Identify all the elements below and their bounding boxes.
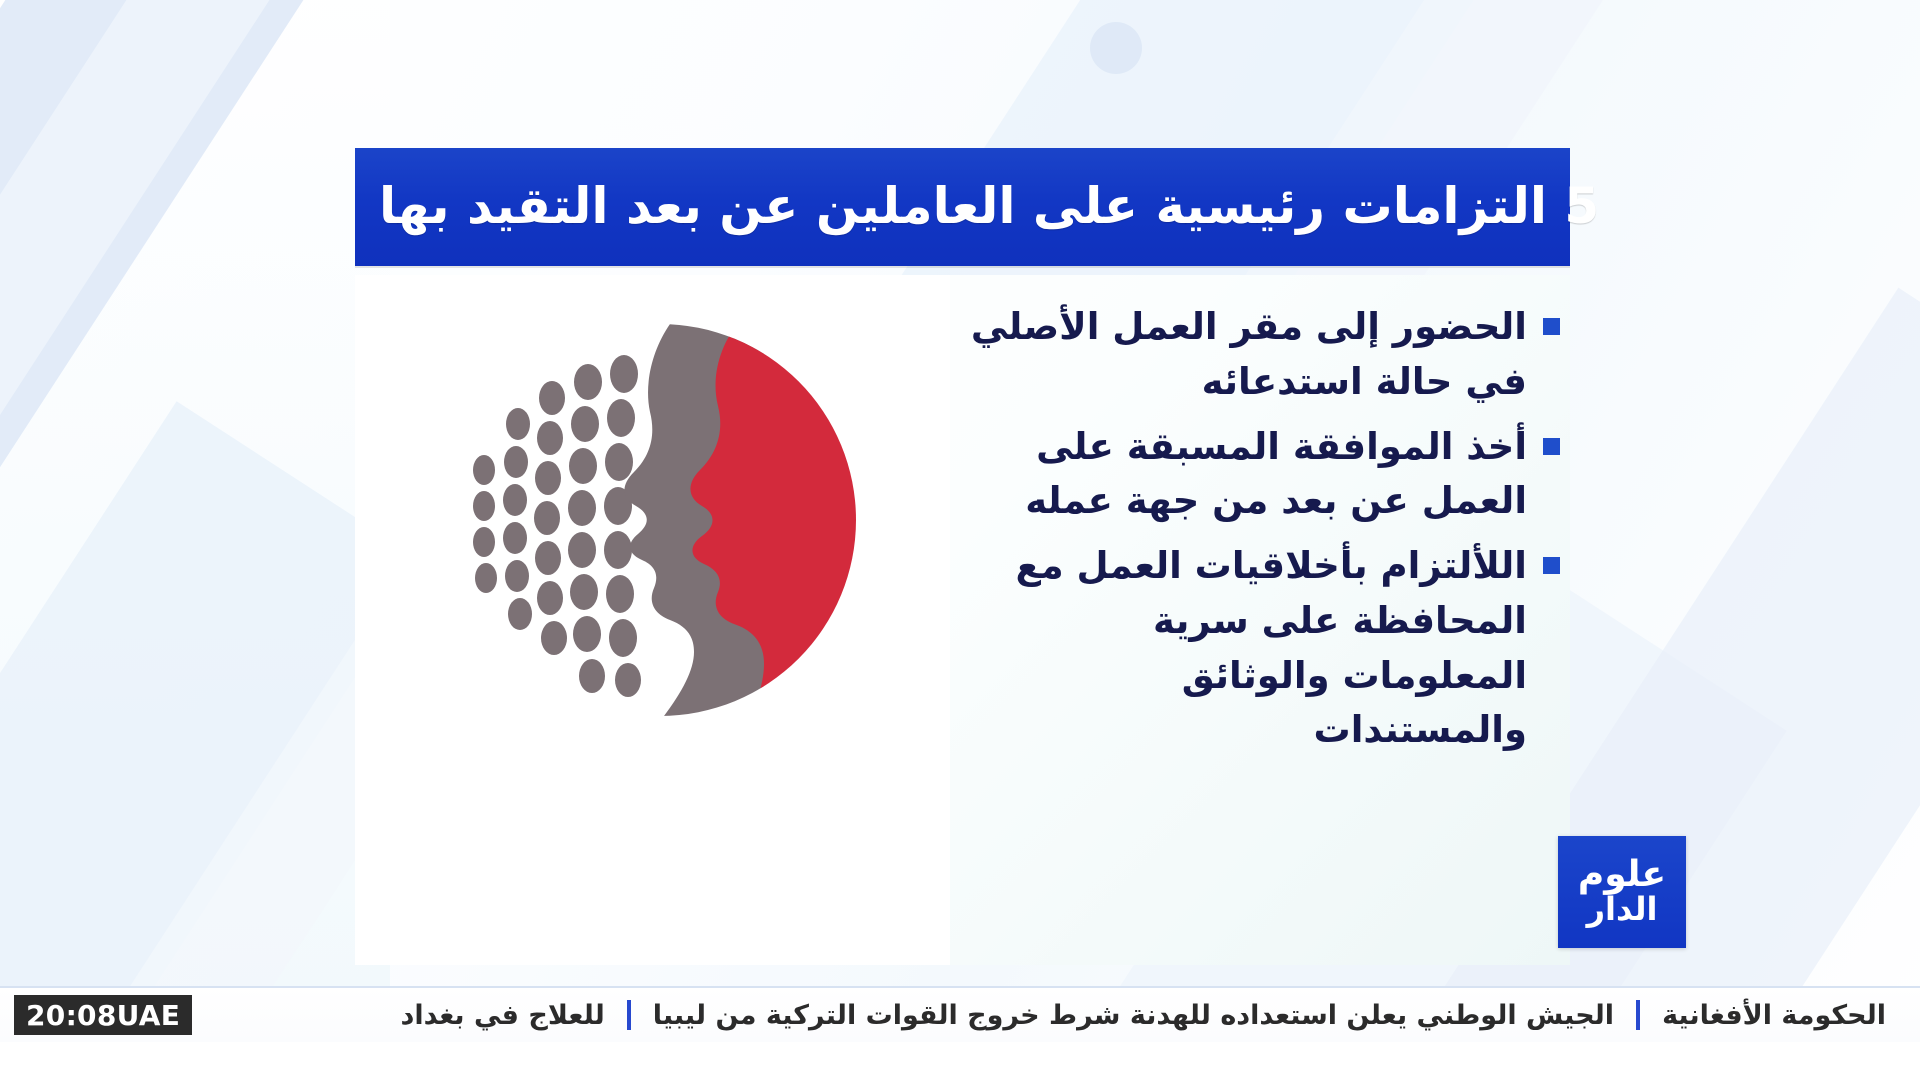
square-bullet-icon: [1543, 318, 1560, 335]
headline-band: 5 التزامات رئيسية على العاملين عن بعد ال…: [355, 148, 1570, 266]
reflection-fade: [440, 722, 880, 962]
ticker-item: للعلاج في بغداد: [378, 1002, 626, 1029]
ticker-separator: [1636, 1000, 1640, 1030]
background-dot: [1090, 22, 1142, 74]
ticker-bottom-strip: [0, 1042, 1920, 1080]
news-ticker-track: الحكومة الأفغانية الجيش الوطني يعلن استع…: [198, 988, 1920, 1042]
bullet-text: الحضور إلى مقر العمل الأصلي في حالة استد…: [960, 300, 1527, 410]
broadcast-frame: 5 التزامات رئيسية على العاملين عن بعد ال…: [0, 0, 1920, 1080]
globe-face-emblem: [440, 320, 880, 720]
channel-logo: علوم الدار: [1558, 836, 1686, 948]
square-bullet-icon: [1543, 557, 1560, 574]
ticker-clock-badge: 20:08UAE: [14, 995, 192, 1035]
list-item: أخذ الموافقة المسبقة على العمل عن بعد من…: [960, 420, 1560, 530]
channel-logo-line-1: علوم: [1578, 857, 1666, 893]
square-bullet-icon: [1543, 438, 1560, 455]
ticker-separator: [627, 1000, 631, 1030]
list-item: الحضور إلى مقر العمل الأصلي في حالة استد…: [960, 300, 1560, 410]
globe-face-emblem-reflection: [440, 722, 880, 962]
list-item: اللألتزام بأخلاقيات العمل مع المحافظة عل…: [960, 539, 1560, 758]
bullet-text: اللألتزام بأخلاقيات العمل مع المحافظة عل…: [960, 539, 1527, 758]
page-title: 5 التزامات رئيسية على العاملين عن بعد ال…: [379, 178, 1599, 236]
channel-logo-line-2: الدار: [1587, 893, 1658, 927]
bullet-list: الحضور إلى مقر العمل الأصلي في حالة استد…: [960, 300, 1560, 758]
ticker-item: الحكومة الأفغانية: [1640, 1002, 1908, 1029]
news-ticker: الحكومة الأفغانية الجيش الوطني يعلن استع…: [0, 986, 1920, 1042]
ticker-item: الجيش الوطني يعلن استعداده للهدنة شرط خر…: [631, 1002, 1636, 1029]
bullet-text: أخذ الموافقة المسبقة على العمل عن بعد من…: [960, 420, 1527, 530]
